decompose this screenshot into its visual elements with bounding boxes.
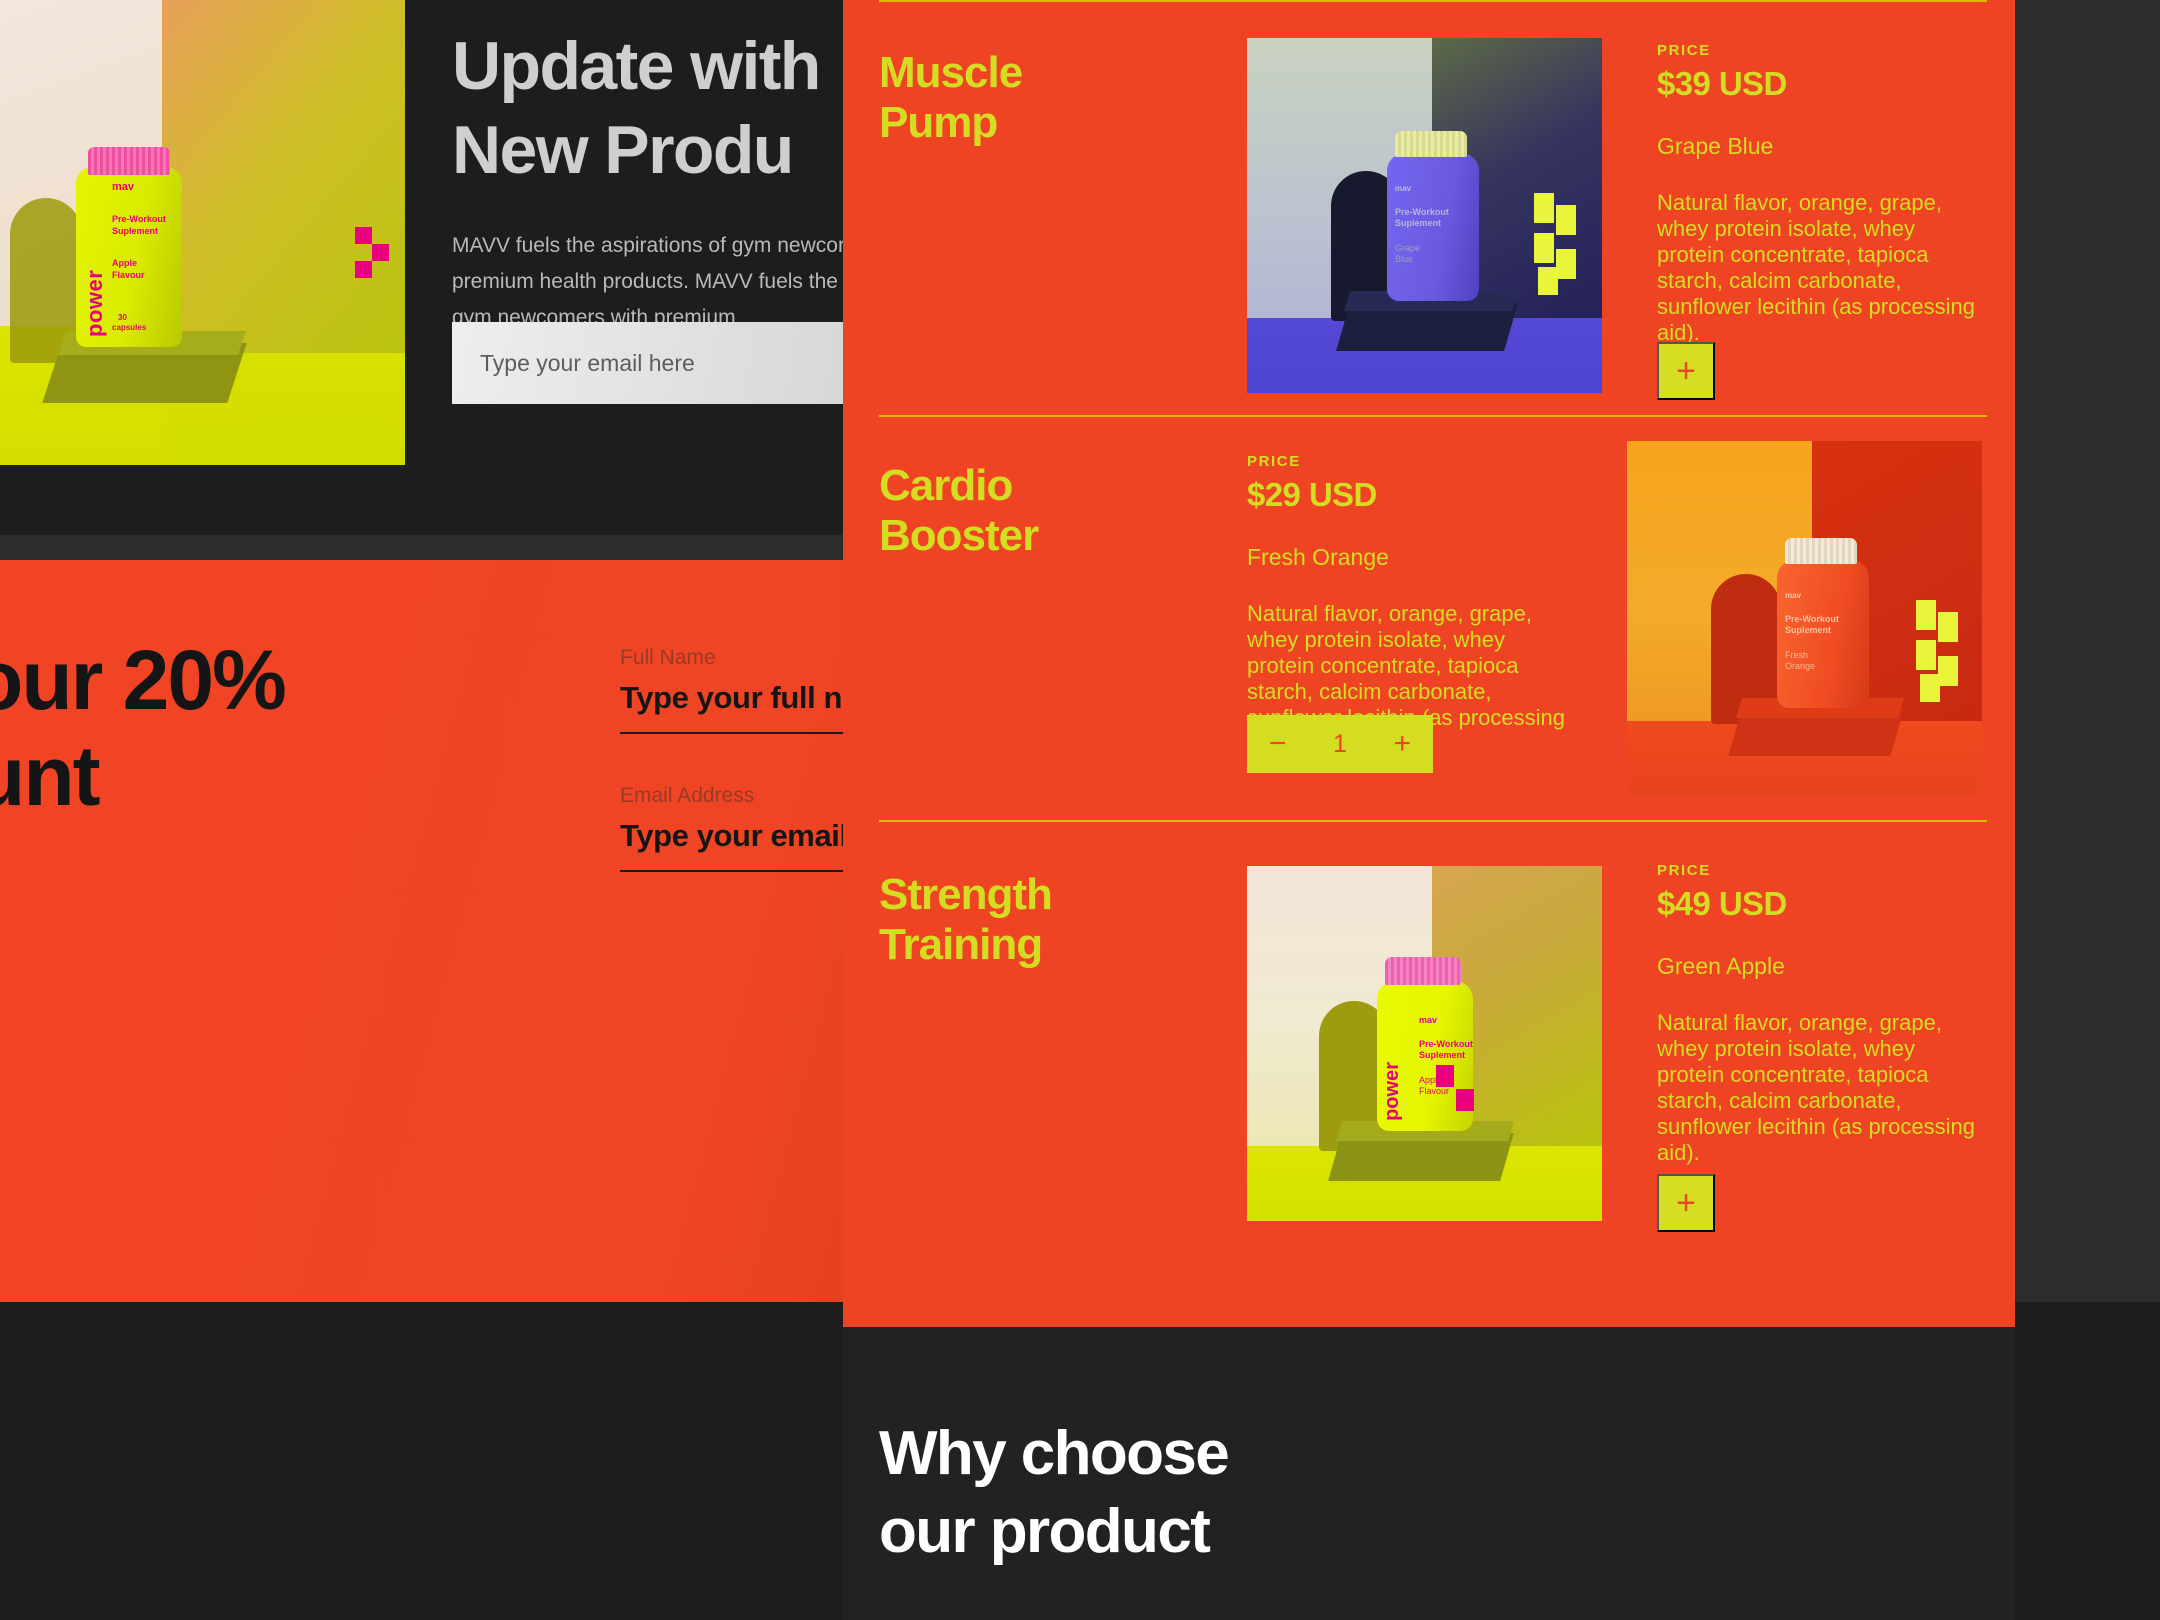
price-label: PRICE: [1247, 453, 1577, 470]
photo-brand-label: mav: [1785, 591, 1801, 600]
product-image: mav Pre-Workout Suplement Grape Blue: [1247, 38, 1602, 393]
price-label: PRICE: [1657, 862, 1987, 879]
product-list: Muscle Pump mav Pre-Workout: [879, 0, 1987, 1233]
photo-brand-label: mav: [1395, 184, 1411, 193]
decrement-button[interactable]: −: [1269, 727, 1287, 761]
product-title: Strength Training: [879, 870, 1052, 970]
overlay-panel: Muscle Pump mav Pre-Workout: [843, 0, 2015, 1620]
product-description: Natural flavor, orange, grape, whey prot…: [1657, 190, 1987, 346]
product-title: Muscle Pump: [879, 48, 1022, 148]
photo-bottle-cap: [1785, 538, 1857, 564]
product-row-cardio-booster[interactable]: Cardio Booster PRICE $29 USD Fresh Orang…: [879, 415, 1987, 820]
photo-type-line1: Pre-Workout: [1785, 614, 1839, 624]
product-image: mav Pre-Workout Suplement Apple Flavour …: [1247, 866, 1602, 1221]
photo-flavor-line1: Apple: [112, 258, 137, 269]
photo-brand-label: mav: [1419, 1015, 1437, 1025]
product-flavor: Grape Blue: [1657, 133, 1987, 160]
price-label: PRICE: [1657, 42, 1987, 59]
promo-title: t your 20% count: [0, 632, 640, 824]
product-flavor: Green Apple: [1657, 953, 1987, 980]
product-info: PRICE $49 USD Green Apple Natural flavor…: [1657, 862, 1987, 1166]
photo-logo-mark: [1436, 1065, 1474, 1111]
photo-flavor-line2: Orange: [1785, 661, 1815, 671]
photo-brand-label: mav: [112, 182, 134, 193]
product-photo-art: mav Pre-Workout Suplement Grape Blue: [1247, 38, 1602, 393]
photo-bottle-side-text: power: [82, 177, 104, 337]
photo-logo-mark: [355, 227, 389, 279]
product-description: Natural flavor, orange, grape, whey prot…: [1657, 1010, 1987, 1166]
product-flavor: Fresh Orange: [1247, 544, 1577, 571]
product-photo-art: mav Pre-Workout Suplement Fresh Orange: [1627, 441, 1982, 796]
photo-bottle-side-text: power: [1381, 1062, 1404, 1121]
photo-flavor-line2: Blue: [1395, 254, 1413, 264]
photo-count-line2: capsules: [112, 322, 146, 333]
product-info: PRICE $39 USD Grape Blue Natural flavor,…: [1657, 42, 1987, 346]
price-value: $49 USD: [1657, 885, 1987, 923]
photo-flavor-line2: Flavour: [112, 270, 145, 281]
product-title: Cardio Booster: [879, 461, 1038, 561]
photo-bottle-cap: [88, 147, 170, 175]
increment-button[interactable]: +: [1393, 727, 1411, 761]
photo-type-line2: Suplement: [1785, 625, 1831, 635]
why-choose-section: Why choose our product: [843, 1327, 2015, 1620]
product-row-muscle-pump[interactable]: Muscle Pump mav Pre-Workout: [879, 0, 1987, 415]
photo-type-line1: Pre-Workout: [1419, 1039, 1473, 1049]
product-catalog-card: Muscle Pump mav Pre-Workout: [843, 0, 2015, 1327]
photo-flavor-line1: Grape: [1395, 243, 1420, 253]
photo-wall-right: [162, 0, 405, 363]
product-image: mav Pre-Workout Suplement Fresh Orange: [1627, 441, 1982, 796]
hero-product-photo: power mav Pre-Workout Suplement Apple Fl…: [0, 0, 405, 465]
photo-type-line2: Suplement: [112, 226, 158, 237]
photo-bottle-cap: [1385, 957, 1461, 985]
product-photo-art: mav Pre-Workout Suplement Apple Flavour …: [1247, 866, 1602, 1221]
quantity-value: 1: [1333, 730, 1347, 759]
price-value: $39 USD: [1657, 65, 1987, 103]
add-to-cart-button[interactable]: +: [1657, 342, 1715, 400]
why-choose-heading: Why choose our product: [879, 1415, 1228, 1571]
photo-bottle-cap: [1395, 131, 1467, 157]
photo-logo-mark: [1916, 600, 1960, 704]
photo-type-line1: Pre-Workout: [1395, 207, 1449, 217]
product-row-strength-training[interactable]: Strength Training mav Pre-W: [879, 820, 1987, 1233]
product-info: PRICE $29 USD Fresh Orange Natural flavo…: [1247, 453, 1577, 757]
photo-type-line1: Pre-Workout: [112, 214, 166, 225]
photo-logo-mark: [1534, 193, 1578, 297]
photo-flavor-line1: Fresh: [1785, 650, 1808, 660]
photo-type-line2: Suplement: [1395, 218, 1441, 228]
screenshot-stage: power mav Pre-Workout Suplement Apple Fl…: [0, 0, 2160, 1620]
quantity-stepper[interactable]: − 1 +: [1247, 715, 1433, 773]
price-value: $29 USD: [1247, 476, 1577, 514]
photo-type-line2: Suplement: [1419, 1050, 1465, 1060]
add-to-cart-button[interactable]: +: [1657, 1174, 1715, 1232]
